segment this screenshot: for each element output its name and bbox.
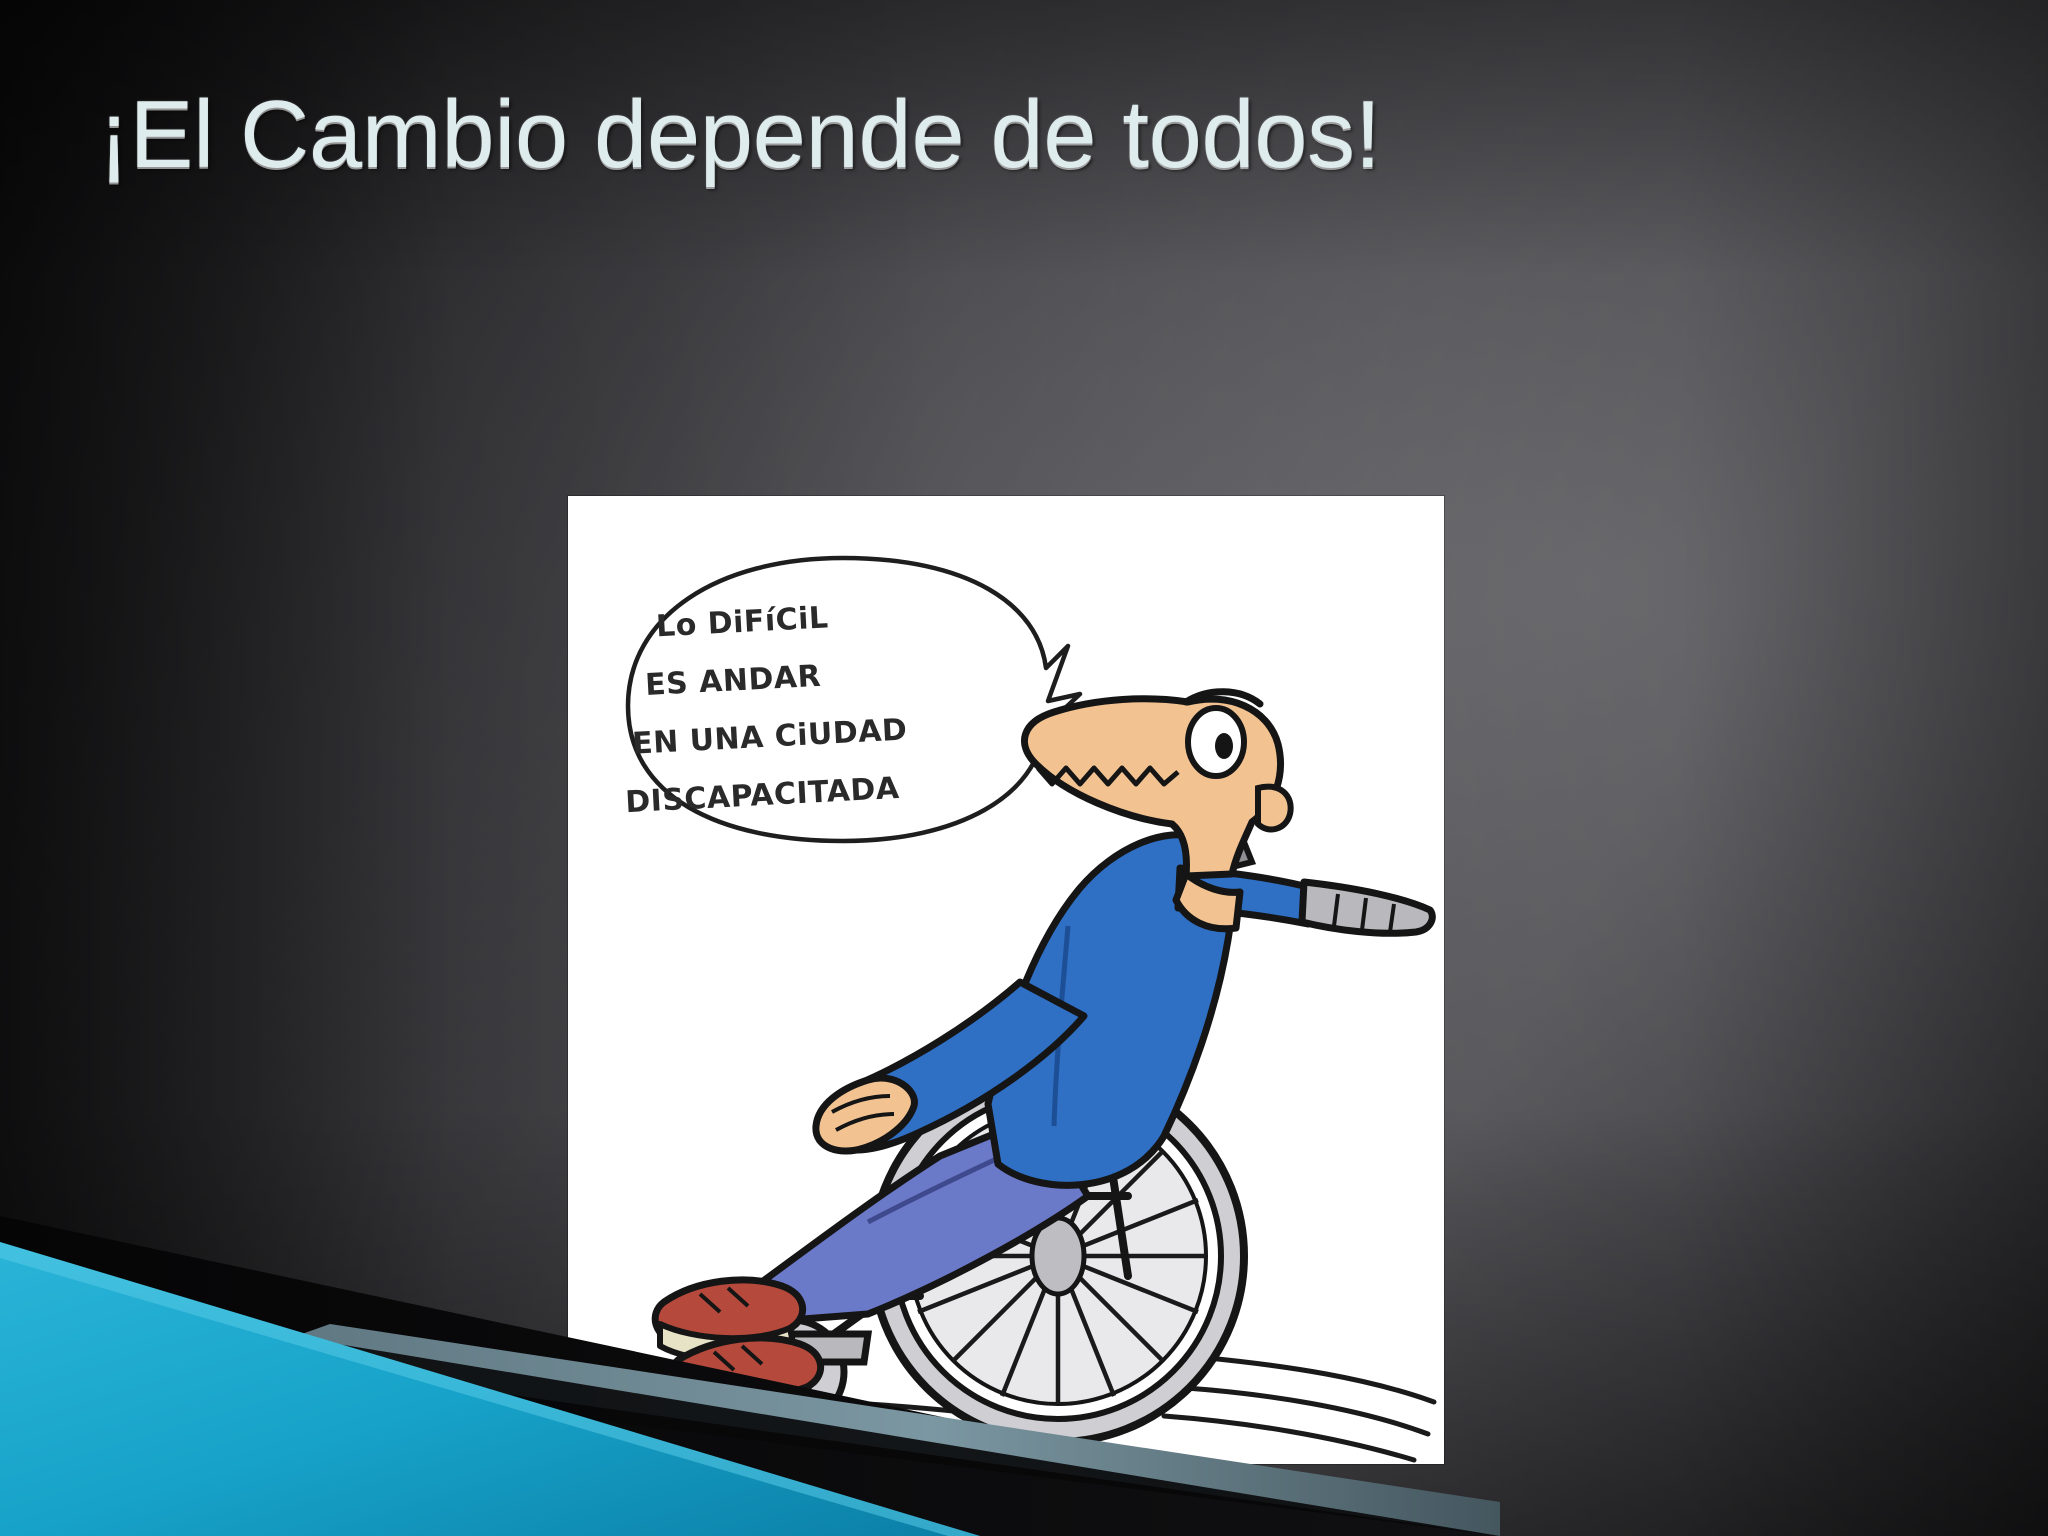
presentation-slide: ¡El Cambio depende de todos! Lo DiFíCiL … bbox=[0, 0, 2048, 1536]
page-title: ¡El Cambio depende de todos! bbox=[80, 84, 1381, 186]
corner-accent-decoration bbox=[0, 1206, 1500, 1536]
slide-title-placeholder: ¡El Cambio depende de todos! bbox=[80, 60, 1970, 210]
